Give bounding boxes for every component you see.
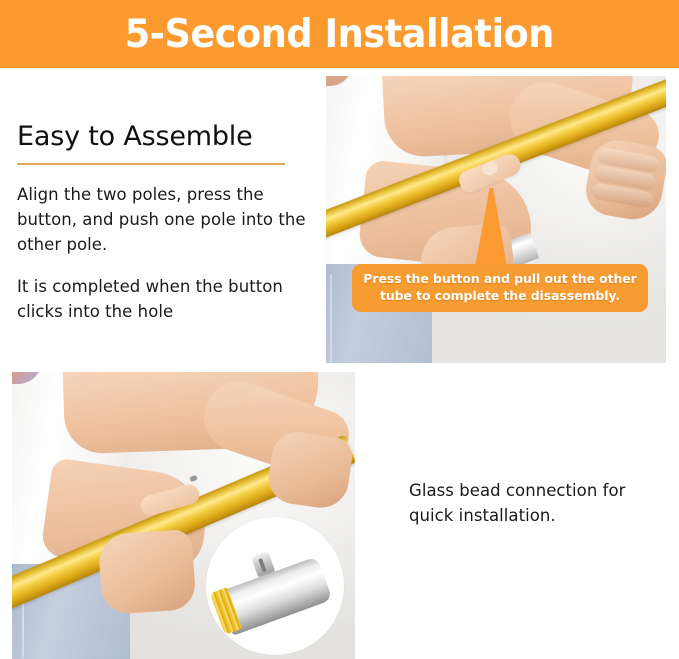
photo-caption-banner: Press the button and pull out the other … xyxy=(352,264,648,312)
instruction-paragraph-2: It is completed when the button clicks i… xyxy=(17,274,309,324)
section-heading: Easy to Assemble xyxy=(17,120,309,154)
heading-underline-rule xyxy=(17,163,285,165)
person-neck xyxy=(326,76,352,86)
left-text-column: Easy to Assemble Align the two poles, pr… xyxy=(17,120,309,324)
person-neck xyxy=(12,372,42,384)
left-hand-grip xyxy=(97,529,196,615)
header-banner: 5-Second Installation xyxy=(0,0,679,68)
instruction-paragraph-1: Align the two poles, press the button, a… xyxy=(17,182,309,257)
photo-assembled-pole xyxy=(12,372,355,659)
page-title: 5-Second Installation xyxy=(125,15,554,54)
connector-detail-inset xyxy=(206,517,344,655)
glass-bead-description: Glass bead connection for quick installa… xyxy=(409,478,659,528)
photo-disassembly: Press the button and pull out the other … xyxy=(326,76,666,363)
infographic-page: 5-Second Installation Easy to Assemble A… xyxy=(0,0,679,659)
photo-caption-text: Press the button and pull out the other … xyxy=(362,271,638,304)
